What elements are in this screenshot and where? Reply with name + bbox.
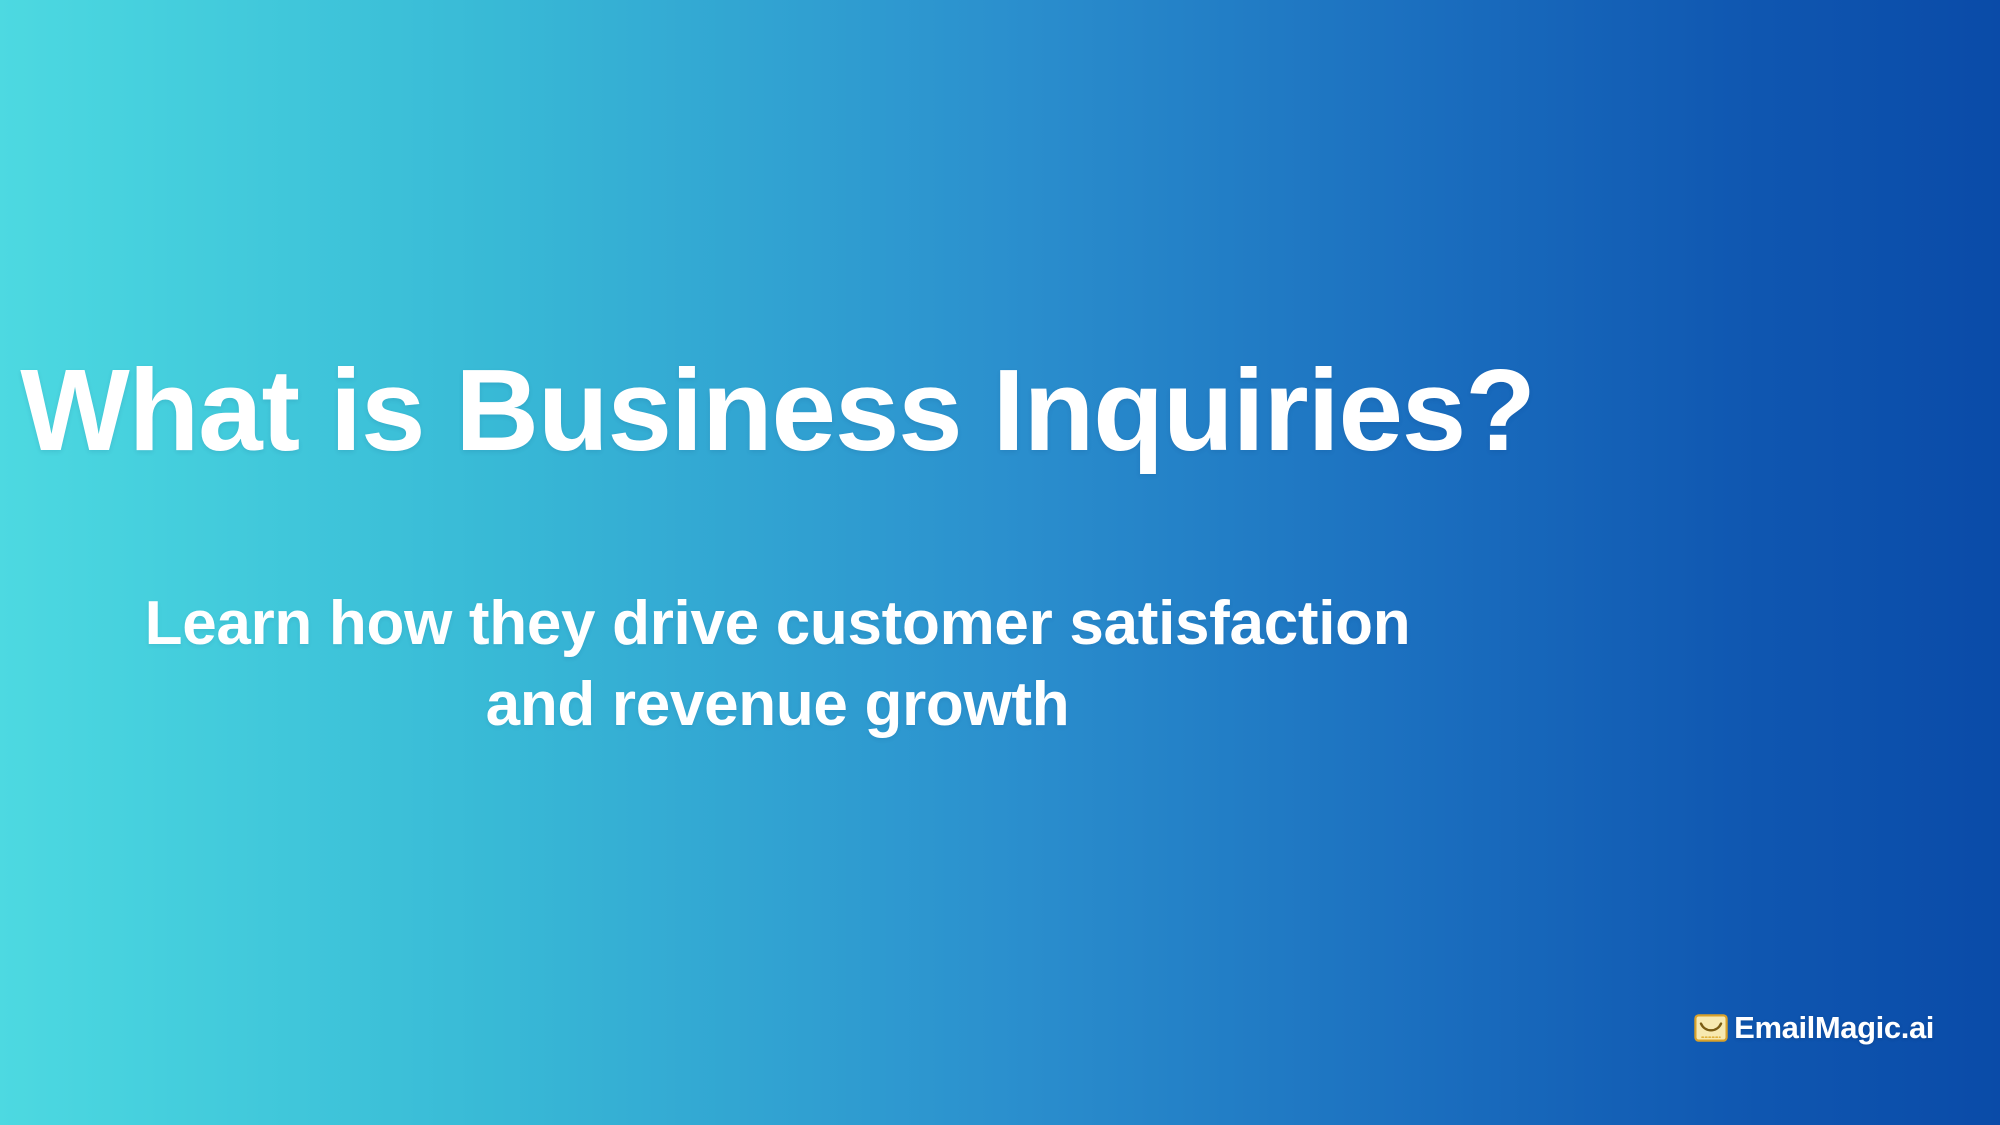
envelope-icon bbox=[1694, 1014, 1728, 1042]
page-title: What is Business Inquiries? bbox=[20, 349, 1535, 472]
slide-canvas: What is Business Inquiries? Learn how th… bbox=[0, 0, 2000, 1125]
subtitle-line-2: and revenue growth bbox=[486, 670, 1070, 739]
slide-content: What is Business Inquiries? Learn how th… bbox=[0, 0, 1555, 1125]
slide-subtitle: Learn how they drive customer satisfacti… bbox=[145, 584, 1411, 745]
brand-name: EmailMagic.ai bbox=[1734, 1012, 1934, 1043]
brand-logo: EmailMagic.ai bbox=[1694, 1012, 1934, 1043]
subtitle-line-1: Learn how they drive customer satisfacti… bbox=[145, 589, 1411, 658]
